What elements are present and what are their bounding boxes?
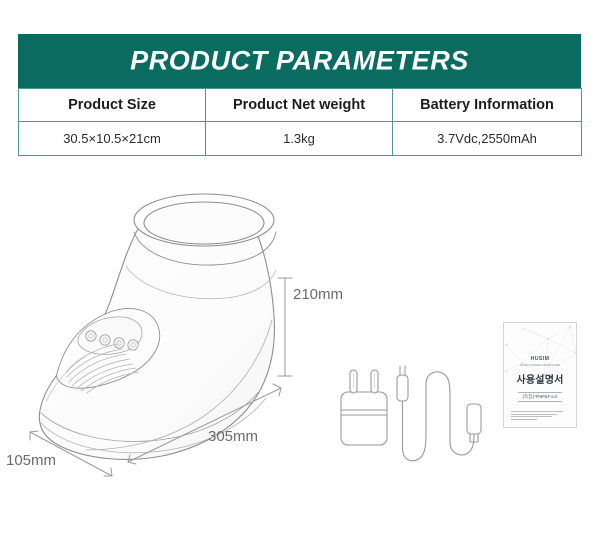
header-banner: PRODUCT PARAMETERS [18,34,581,88]
column-header-product-size: Product Size [19,89,206,122]
page-title: PRODUCT PARAMETERS [18,48,581,75]
control-button-3 [114,338,124,348]
column-header-product-net-weight: Product Net weight [206,89,393,122]
table-header-row: Product Size Product Net weight Battery … [19,89,582,122]
accessories-group [341,366,481,461]
value-battery-information: 3.7Vdc,2550mAh [393,122,582,156]
dimension-label-width: 105mm [6,452,56,469]
manual-footer-text [511,411,569,422]
product-parameters-table: Product Size Product Net weight Battery … [18,88,582,156]
value-product-size: 30.5×10.5×21cm [19,122,206,156]
value-product-net-weight: 1.3kg [206,122,393,156]
manual-model-code: HSM-FT01 [504,394,576,398]
control-button-4 [128,340,138,350]
manual-title: 사용설명서 [504,371,576,386]
dimension-label-height: 210mm [293,286,343,303]
control-button-1 [86,331,96,341]
power-adapter-icon [341,370,387,445]
user-manual-booklet: HUSIM HUSIM KOREA MASSAGER 사용설명서 [족집] Th… [503,322,577,428]
dimension-height [278,278,292,376]
massager-drawing [39,194,276,459]
product-illustration-area: 210mm 305mm 105mm [0,170,600,500]
table-value-row: 30.5×10.5×21cm 1.3kg 3.7Vdc,2550mAh [19,122,582,156]
control-button-2 [100,335,110,345]
charging-cable-icon [397,366,481,461]
manual-brand-name: HUSIM [504,356,576,362]
column-header-battery-information: Battery Information [393,89,582,122]
manual-brand-tagline: HUSIM KOREA MASSAGER [504,363,576,367]
ankle-opening-inner [144,202,264,244]
dimension-label-length: 305mm [208,428,258,445]
